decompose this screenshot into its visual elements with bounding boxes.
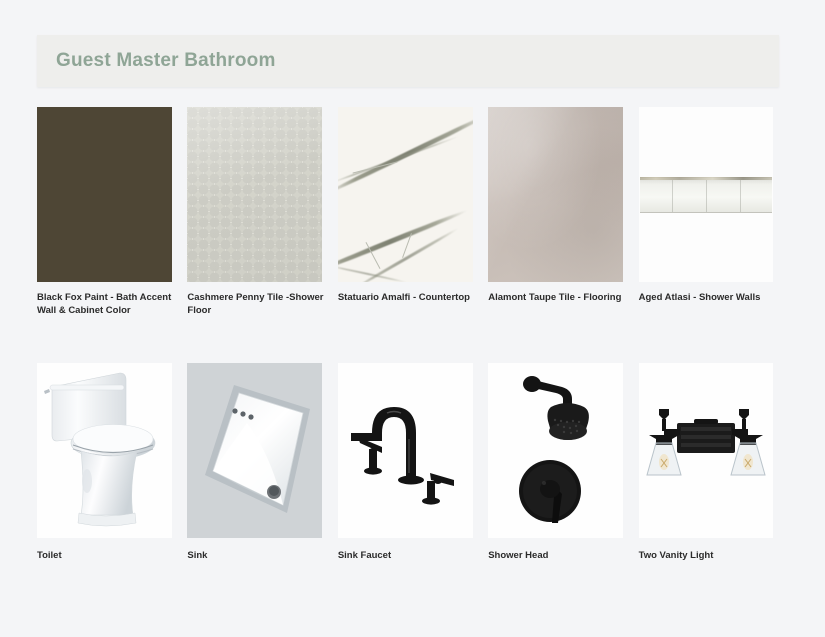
white-one-piece-toilet-photo (37, 363, 172, 538)
toilet-illustration (37, 363, 172, 538)
aged-atlasi-subway-tile-swatch (639, 107, 773, 282)
sink-photo-thumb[interactable] (187, 363, 322, 538)
matte-black-widespread-faucet-photo (338, 363, 473, 538)
sink-illustration (187, 363, 322, 538)
black-fox-paint-swatch (37, 107, 172, 282)
board-item-toilet[interactable]: Toilet (37, 363, 183, 563)
board-header-panel: Guest Master Bathroom (37, 35, 779, 87)
materials-row: Black Fox Paint - Bath Accent Wall & Cab… (37, 107, 789, 317)
design-board-page: Guest Master Bathroom Black Fox Paint - … (0, 0, 825, 637)
board-item-label: Toilet (37, 550, 177, 563)
board-item-label: Shower Head (488, 550, 628, 563)
shower-head-illustration (488, 363, 623, 538)
shower-head-photo-thumb[interactable] (488, 363, 623, 538)
board-item-label: Cashmere Penny Tile -Shower Floor (187, 292, 327, 317)
marble-vein (338, 208, 468, 274)
sink-faucet-photo-thumb[interactable] (338, 363, 473, 538)
board-item-sink-faucet[interactable]: Sink Faucet (338, 363, 484, 563)
subway-tile-strip (640, 177, 772, 213)
tile-seam (740, 180, 741, 212)
board-item-label: Sink (187, 550, 327, 563)
statuario-amalfi-marble-swatch (338, 107, 473, 282)
alamont-taupe-tile-swatch (488, 107, 623, 282)
marble-vein (338, 265, 407, 282)
board-item-alamont-taupe-tile[interactable]: Alamont Taupe Tile - Flooring (488, 107, 634, 317)
faucet-illustration (338, 363, 473, 538)
board-item-shower-head[interactable]: Shower Head (488, 363, 634, 563)
tile-seam (672, 180, 673, 212)
aged-atlasi-subway-tile-swatch-thumb[interactable] (639, 107, 773, 282)
board-item-two-vanity-light[interactable]: Two Vanity Light (639, 363, 785, 563)
page-title: Guest Master Bathroom (56, 50, 276, 72)
vanity-light-photo-thumb[interactable] (639, 363, 773, 538)
board-item-statuario-amalfi[interactable]: Statuario Amalfi - Countertop (338, 107, 484, 317)
toilet-photo-thumb[interactable] (37, 363, 172, 538)
cashmere-penny-tile-swatch (187, 107, 322, 282)
board-item-label: Black Fox Paint - Bath Accent Wall & Cab… (37, 292, 177, 317)
tile-seam (706, 180, 707, 212)
board-item-black-fox-paint[interactable]: Black Fox Paint - Bath Accent Wall & Cab… (37, 107, 183, 317)
board-item-label: Two Vanity Light (639, 550, 779, 563)
undermount-rectangular-sink-photo (187, 363, 322, 538)
board-item-sink[interactable]: Sink (187, 363, 333, 563)
board-item-cashmere-penny-tile[interactable]: Cashmere Penny Tile -Shower Floor (187, 107, 333, 317)
cashmere-penny-tile-swatch-thumb[interactable] (187, 107, 322, 282)
matte-black-shower-head-and-valve-trim-photo (488, 363, 623, 538)
alamont-taupe-tile-swatch-thumb[interactable] (488, 107, 623, 282)
board-item-label: Aged Atlasi - Shower Walls (639, 292, 779, 305)
black-fox-paint-swatch-thumb[interactable] (37, 107, 172, 282)
board-item-label: Statuario Amalfi - Countertop (338, 292, 478, 305)
board-item-label: Sink Faucet (338, 550, 478, 563)
fixtures-row: Toilet (37, 363, 789, 563)
board-item-aged-atlasi[interactable]: Aged Atlasi - Shower Walls (639, 107, 785, 317)
statuario-amalfi-marble-swatch-thumb[interactable] (338, 107, 473, 282)
two-light-black-vanity-fixture-photo (639, 363, 773, 538)
vanity-light-illustration (639, 363, 773, 538)
board-item-label: Alamont Taupe Tile - Flooring (488, 292, 628, 305)
